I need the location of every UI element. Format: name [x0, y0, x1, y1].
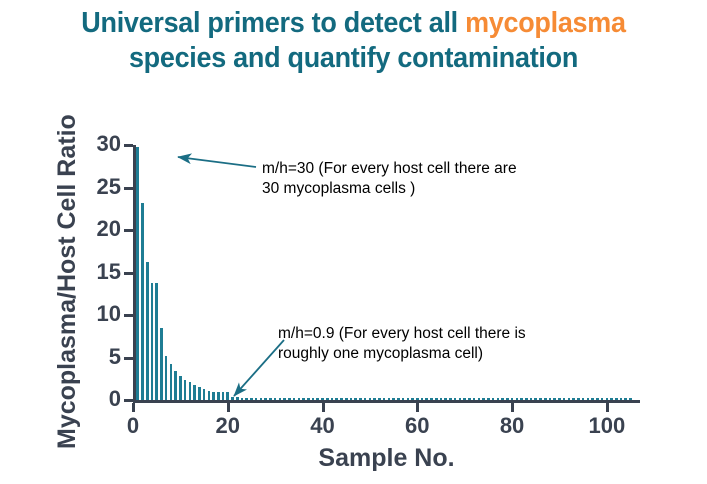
bar — [492, 398, 495, 400]
bar — [345, 398, 348, 400]
bar — [558, 398, 561, 400]
bar — [155, 283, 158, 400]
bar — [459, 398, 462, 400]
bar — [316, 398, 319, 400]
bar — [549, 398, 552, 400]
bar — [174, 371, 177, 400]
title-text-primary: Universal primers to detect all — [81, 7, 465, 39]
annotation-low-line-2: roughly one mycoplasma cell) — [278, 344, 526, 364]
slide-title: Universal primers to detect all mycoplas… — [25, 6, 683, 76]
bar — [340, 398, 343, 400]
bar — [283, 398, 286, 400]
bar — [478, 398, 481, 400]
x-tick-label-80: 80 — [482, 414, 542, 438]
bar — [444, 398, 447, 400]
y-tick-15 — [124, 272, 133, 275]
bar — [359, 398, 362, 400]
bar — [610, 398, 613, 400]
y-tick-label-20: 20 — [75, 218, 121, 240]
y-tick-5 — [124, 357, 133, 360]
bar — [516, 398, 519, 400]
bar — [269, 398, 272, 400]
x-tick-label-100: 100 — [577, 414, 637, 438]
x-tick-0 — [132, 403, 135, 412]
x-tick-100 — [606, 403, 609, 412]
bar — [250, 398, 253, 400]
bar — [544, 398, 547, 400]
bar — [383, 398, 386, 400]
bar — [369, 398, 372, 400]
bar — [577, 398, 580, 400]
bar — [534, 398, 537, 400]
bar — [596, 398, 599, 400]
bar — [222, 392, 225, 400]
bar — [568, 398, 571, 400]
bar — [203, 389, 206, 400]
bar — [468, 398, 471, 400]
bar — [525, 398, 528, 400]
bar — [189, 382, 192, 400]
bar — [321, 398, 324, 400]
bar-chart: 051015202530 020406080100 Mycoplasma/Hos… — [0, 92, 707, 484]
bar — [397, 398, 400, 400]
bar — [241, 398, 244, 400]
bar — [245, 398, 248, 400]
bar — [236, 397, 239, 400]
bar — [212, 392, 215, 401]
bar — [255, 398, 258, 400]
y-tick-30 — [124, 144, 133, 147]
bar — [501, 398, 504, 400]
bar — [482, 398, 485, 400]
bar — [416, 398, 419, 400]
title-line-1: Universal primers to detect all mycoplas… — [25, 6, 683, 41]
bar — [354, 398, 357, 400]
y-tick-0 — [124, 399, 133, 402]
bar — [487, 398, 490, 400]
bar — [629, 398, 632, 400]
bar — [198, 387, 201, 400]
x-axis-title: Sample No. — [133, 444, 640, 472]
bar — [160, 328, 163, 400]
bar — [193, 385, 196, 400]
bar — [307, 398, 310, 400]
bar — [563, 398, 566, 400]
x-tick-60 — [416, 403, 419, 412]
annotation-low-ratio: m/h=0.9 (For every host cell there is ro… — [278, 324, 526, 364]
bar — [430, 398, 433, 400]
bar — [591, 398, 594, 400]
x-axis-line — [133, 400, 640, 403]
bar — [620, 398, 623, 400]
bar — [463, 398, 466, 400]
bar — [421, 398, 424, 400]
bar — [449, 398, 452, 400]
bar — [388, 398, 391, 400]
bar — [392, 398, 395, 400]
bar — [539, 398, 542, 400]
bar — [288, 398, 291, 400]
bar — [136, 147, 139, 400]
bar — [141, 203, 144, 400]
bar — [217, 392, 220, 400]
title-line-2: species and quantify contamination — [25, 41, 683, 76]
bar — [298, 398, 301, 400]
y-tick-label-25: 25 — [75, 176, 121, 198]
bar — [279, 398, 282, 400]
bar — [378, 398, 381, 400]
title-text-accent: mycoplasma — [465, 7, 626, 39]
bar — [373, 398, 376, 400]
x-tick-label-0: 0 — [103, 414, 163, 438]
bar — [350, 398, 353, 400]
bar — [587, 398, 590, 400]
x-tick-label-60: 60 — [387, 414, 447, 438]
x-tick-40 — [322, 403, 325, 412]
bar — [624, 398, 627, 400]
bar — [179, 376, 182, 400]
bar — [335, 398, 338, 400]
bar — [553, 398, 556, 400]
bar — [440, 398, 443, 400]
bar — [407, 398, 410, 400]
bar — [402, 398, 405, 400]
bar — [293, 398, 296, 400]
x-tick-20 — [227, 403, 230, 412]
y-tick-label-10: 10 — [75, 303, 121, 325]
bar — [208, 391, 211, 400]
annotation-high-ratio: m/h=30 (For every host cell there are 30… — [262, 159, 517, 199]
bar — [425, 398, 428, 400]
bar — [151, 283, 154, 400]
y-tick-20 — [124, 229, 133, 232]
y-tick-label-30: 30 — [75, 133, 121, 155]
annotation-low-line-1: m/h=0.9 (For every host cell there is — [278, 324, 526, 344]
bar — [506, 398, 509, 400]
bar — [231, 397, 234, 400]
bar — [520, 398, 523, 400]
bar — [302, 398, 305, 400]
bar — [331, 398, 334, 400]
bar — [497, 398, 500, 400]
y-tick-label-5: 5 — [75, 346, 121, 368]
bar — [274, 398, 277, 400]
bar — [435, 398, 438, 400]
y-tick-25 — [124, 187, 133, 190]
y-tick-label-0: 0 — [75, 388, 121, 410]
bar — [146, 262, 149, 400]
bar — [170, 364, 173, 400]
bar — [312, 398, 315, 400]
x-tick-label-40: 40 — [293, 414, 353, 438]
bar — [411, 398, 414, 400]
y-tick-10 — [124, 314, 133, 317]
bar — [601, 398, 604, 400]
bar — [226, 392, 229, 400]
x-tick-label-20: 20 — [198, 414, 258, 438]
bar — [454, 398, 457, 400]
bar — [326, 398, 329, 400]
bar — [260, 398, 263, 400]
bar — [264, 398, 267, 400]
bar — [473, 398, 476, 400]
annotation-high-line-2: 30 mycoplasma cells ) — [262, 179, 517, 199]
bar — [582, 398, 585, 400]
bar — [184, 380, 187, 400]
y-tick-label-15: 15 — [75, 261, 121, 283]
bar — [530, 398, 533, 400]
bar — [606, 398, 609, 400]
bar — [165, 356, 168, 400]
annotation-high-line-1: m/h=30 (For every host cell there are — [262, 159, 517, 179]
bar — [511, 398, 514, 400]
bar — [615, 398, 618, 400]
bar — [364, 398, 367, 400]
x-tick-80 — [511, 403, 514, 412]
y-axis-title: Mycoplasma/Host Cell Ratio — [53, 119, 81, 449]
bar — [572, 398, 575, 400]
